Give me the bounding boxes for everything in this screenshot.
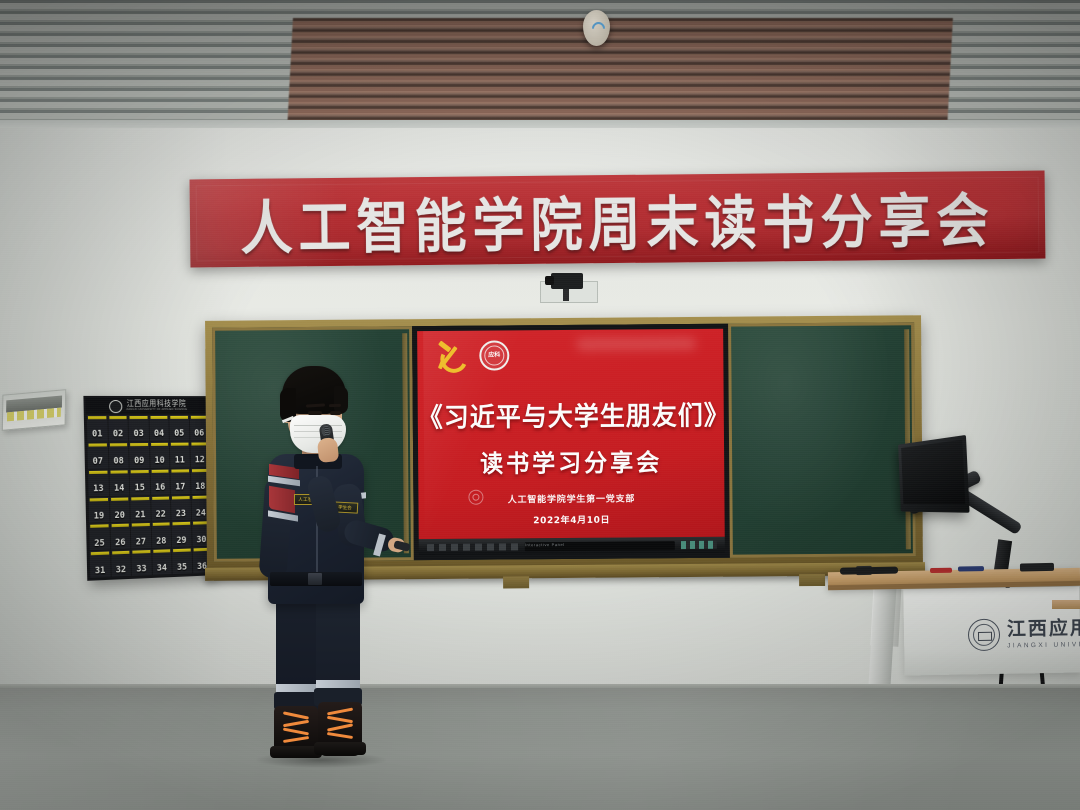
bezel-brand-label: Interactive Panel xyxy=(525,541,675,547)
pocket-slot[interactable]: 15 xyxy=(130,469,150,495)
bezel-ports[interactable] xyxy=(427,543,519,551)
board-slide-edge-right xyxy=(904,329,911,549)
school-emblem-icon: 应科 xyxy=(479,340,509,370)
pocket-slot-number: 03 xyxy=(133,430,143,441)
pocket-slot[interactable]: 05 xyxy=(169,415,189,441)
desk-logo-en: JIANGXI UNIVERSI xyxy=(1007,640,1080,649)
university-seal-icon xyxy=(968,619,1001,652)
name-badge-text: 学生会 xyxy=(338,504,352,511)
camera-icon xyxy=(551,273,583,289)
boot-lace xyxy=(327,723,353,731)
belt-buckle xyxy=(308,573,322,585)
pocket-slot-number: 01 xyxy=(92,431,103,442)
pocket-slot-number: 33 xyxy=(136,565,146,576)
boot-lace xyxy=(283,736,309,743)
camera-stem xyxy=(563,289,569,301)
pocket-slot-number: 06 xyxy=(194,430,204,440)
pocket-slot[interactable]: 01 xyxy=(87,415,107,441)
board-slide-edge-left xyxy=(402,333,409,553)
pocket-slot-number: 16 xyxy=(155,484,165,495)
boot-lace xyxy=(283,728,309,735)
pocket-slot[interactable]: 07 xyxy=(87,442,107,468)
presenter-hand-holding-mic xyxy=(317,437,339,463)
slide-title: 《习近平与大学生朋友们》 xyxy=(418,394,724,434)
pocket-slot-number: 24 xyxy=(196,509,206,520)
pocket-slot[interactable]: 19 xyxy=(89,496,109,523)
pocket-slot[interactable]: 21 xyxy=(130,496,150,522)
louvered-ceiling xyxy=(0,0,1080,132)
pocket-slot[interactable]: 10 xyxy=(150,442,170,468)
pocket-slot-number: 23 xyxy=(176,510,186,521)
slide-date: 2022年4月10日 xyxy=(419,512,725,527)
boot-lace xyxy=(283,711,309,719)
pocket-slot[interactable]: 22 xyxy=(151,495,171,521)
desk-logo-cn: 江西应用 xyxy=(1007,618,1080,639)
boot-lace xyxy=(327,716,353,723)
pocket-slot[interactable]: 11 xyxy=(170,441,190,467)
presenter-hair-side-right xyxy=(334,386,348,414)
red-marker[interactable] xyxy=(930,568,952,573)
pocket-slot-number: 10 xyxy=(154,457,164,468)
pocket-slot-number: 11 xyxy=(175,457,185,468)
pocket-slot-number: 31 xyxy=(95,566,106,577)
pocket-slot[interactable]: 13 xyxy=(88,469,108,496)
pocket-slot[interactable]: 17 xyxy=(170,468,190,494)
banner-title: 人工智能学院周末读书分享会 xyxy=(240,173,995,265)
floor xyxy=(0,688,1080,810)
pocket-slot-number: 14 xyxy=(114,485,125,496)
desk-right-shelf xyxy=(1052,600,1080,609)
interactive-display[interactable]: 应科 《习近平与大学生朋友们》 读书学习分享会 人工智能学院学生第一党支部 20… xyxy=(412,324,730,560)
slide-emblems: 应科 xyxy=(435,340,509,371)
pocket-slot[interactable]: 34 xyxy=(152,548,172,575)
green-chalkboard-right[interactable] xyxy=(728,322,916,557)
desk-accessory[interactable] xyxy=(1020,563,1054,572)
boot-lace xyxy=(283,720,309,727)
pocket-slot[interactable]: 09 xyxy=(129,442,149,468)
pocket-slot-number: 08 xyxy=(113,458,124,469)
pocket-slot[interactable]: 26 xyxy=(110,523,130,550)
pocket-slot[interactable]: 02 xyxy=(108,415,128,441)
pocket-slot[interactable]: 29 xyxy=(172,521,192,547)
pocket-slot-number: 30 xyxy=(196,536,206,547)
pocket-slot-number: 26 xyxy=(115,539,126,550)
pocket-slot[interactable]: 03 xyxy=(128,415,148,441)
pocket-slot[interactable]: 32 xyxy=(111,550,131,577)
blue-marker[interactable] xyxy=(958,566,984,571)
slide-subtitle: 读书学习分享会 xyxy=(418,441,724,479)
pocket-slot[interactable]: 14 xyxy=(109,469,129,495)
event-banner: 人工智能学院周末读书分享会 xyxy=(190,171,1046,268)
pocket-chart-grid: 0102030405060708091011121314151617181920… xyxy=(86,414,213,579)
pocket-slot[interactable]: 20 xyxy=(110,496,130,523)
pocket-slot-number: 18 xyxy=(195,483,205,494)
pocket-slot-number: 22 xyxy=(156,510,166,521)
pocket-slot[interactable]: 23 xyxy=(171,495,191,521)
pocket-slot-number: 02 xyxy=(113,431,124,442)
pocket-slot-number: 15 xyxy=(135,484,145,495)
pocket-slot[interactable]: 31 xyxy=(90,551,110,578)
pocket-slot-number: 29 xyxy=(176,536,186,547)
pocket-slot[interactable]: 27 xyxy=(131,522,151,549)
slide-organization: 人工智能学院学生第一党支部 xyxy=(418,491,724,506)
boot-lace xyxy=(327,708,353,715)
boot-lace xyxy=(327,732,353,739)
pocket-slot[interactable]: 08 xyxy=(108,442,128,468)
pocket-slot-number: 20 xyxy=(115,512,126,523)
electrical-panel xyxy=(2,389,66,431)
pocket-slot-number: 34 xyxy=(157,564,167,575)
school-emblem-text: 应科 xyxy=(488,352,500,358)
pocket-slot[interactable]: 33 xyxy=(131,549,151,576)
cpc-party-emblem-icon xyxy=(435,343,465,369)
pocket-slot[interactable]: 25 xyxy=(89,524,109,551)
slide-footer: 人工智能学院学生第一党支部 2022年4月10日 xyxy=(418,491,724,527)
pocket-slot-number: 25 xyxy=(94,539,105,550)
ceiling-shading xyxy=(0,0,1080,132)
pocket-slot-number: 17 xyxy=(175,483,185,494)
pocket-slot-number: 09 xyxy=(134,457,144,468)
university-seal-icon xyxy=(109,399,122,412)
pocket-slot-number: 05 xyxy=(174,430,184,440)
classroom-photo-scene: 人工智能学院周末读书分享会 江西应用科技学院 JIANGXI UNIVERSIT… xyxy=(0,0,1080,810)
pocket-slot[interactable]: 28 xyxy=(151,522,171,548)
pocket-chart-header: 江西应用科技学院 JIANGXI UNIVERSITY OF APPLIED S… xyxy=(85,398,209,414)
desk-black-device[interactable] xyxy=(840,567,898,575)
tray-bracket-left xyxy=(503,576,529,588)
screen-glare-spot xyxy=(576,337,696,351)
presenter: 人工智能 学生会 xyxy=(236,366,396,786)
pocket-slot[interactable]: 35 xyxy=(172,548,192,574)
pocket-slot-number: 04 xyxy=(154,430,164,441)
pocket-slot-number: 35 xyxy=(177,563,187,574)
presenter-eyebrow-right xyxy=(329,404,341,407)
boot-sole-right xyxy=(314,742,366,755)
bezel-center-panel: Interactive Panel xyxy=(525,541,675,551)
pocket-slot-number: 32 xyxy=(116,566,127,577)
pocket-chart-title: 江西应用科技学院 xyxy=(127,400,187,408)
pocket-slot-number: 28 xyxy=(156,537,166,548)
pocket-slot[interactable]: 04 xyxy=(149,415,169,441)
tray-bracket-right xyxy=(799,574,825,586)
pocket-slot-number: 12 xyxy=(195,456,205,467)
bezel-buttons[interactable] xyxy=(681,541,717,549)
pocket-slot[interactable]: 16 xyxy=(150,468,170,494)
phone-pocket-chart: 江西应用科技学院 JIANGXI UNIVERSITY OF APPLIED S… xyxy=(83,396,214,581)
shoulder-red-panel-lower xyxy=(269,486,295,514)
desk-university-logo: 江西应用 JIANGXI UNIVERSI xyxy=(968,617,1080,651)
pocket-slot-number: 19 xyxy=(94,512,105,523)
pocket-slot-number: 27 xyxy=(136,538,146,549)
pocket-slot-number: 07 xyxy=(93,458,104,469)
pocket-slot-number: 21 xyxy=(135,511,145,522)
display-bezel[interactable]: Interactive Panel xyxy=(419,537,725,555)
slide-text-block: 《习近平与大学生朋友们》 读书学习分享会 xyxy=(418,395,725,478)
pocket-slot-number: 13 xyxy=(93,485,104,496)
presentation-slide[interactable]: 应科 《习近平与大学生朋友们》 读书学习分享会 人工智能学院学生第一党支部 20… xyxy=(417,329,725,539)
monitor-screen[interactable] xyxy=(898,435,969,513)
